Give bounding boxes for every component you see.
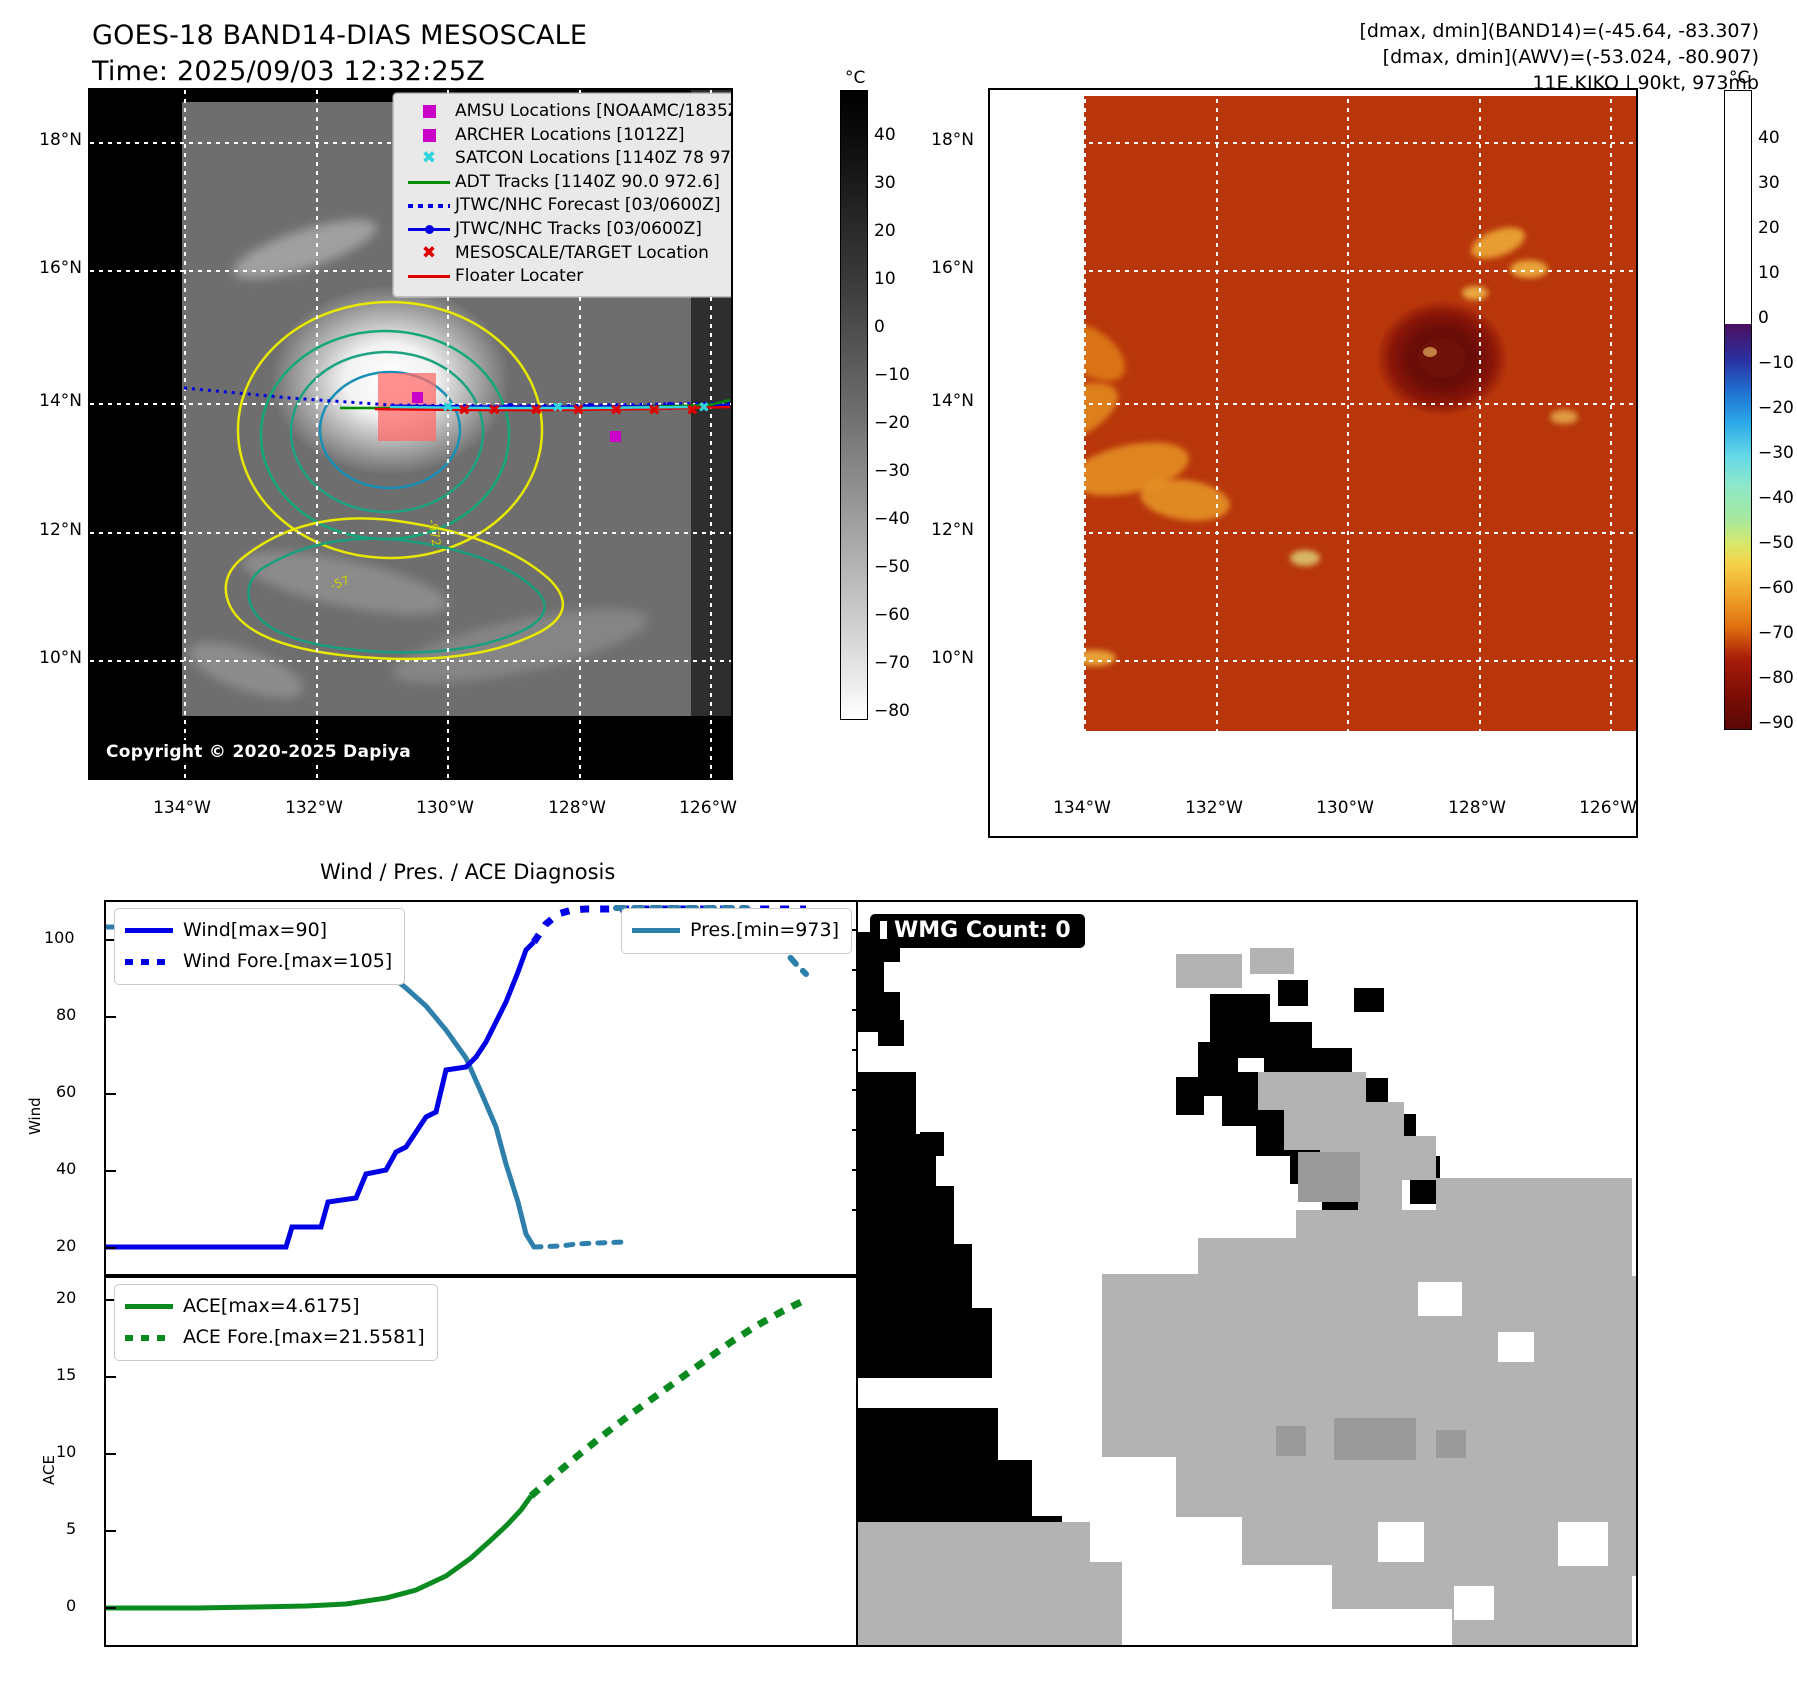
cb-tick: −80 xyxy=(874,701,910,721)
ace-ytick: 5 xyxy=(66,1519,76,1538)
wmg-count-label: WMG Count: 0 xyxy=(894,918,1071,943)
ace-chart[interactable]: ACE[max=4.6175] ACE Fore.[max=21.5581] xyxy=(104,1276,864,1647)
legend-item: ✖MESOSCALE/TARGET Location xyxy=(403,242,733,266)
ir-xtick: 132°W xyxy=(285,798,343,818)
ir-xtick: 128°W xyxy=(548,798,606,818)
cb-tick: 0 xyxy=(1758,308,1769,328)
cb-tick: 0 xyxy=(874,317,885,337)
ace-ytick: 0 xyxy=(66,1596,76,1615)
grid-line-vertical xyxy=(1216,90,1218,836)
legend-label: JTWC/NHC Forecast [03/0600Z] xyxy=(455,194,720,218)
wind-ytick: 80 xyxy=(56,1005,76,1024)
cb-tick: −30 xyxy=(874,461,910,481)
awv-xtick: 134°W xyxy=(1053,798,1111,818)
grid-line-horizontal xyxy=(990,270,1636,272)
legend-item: ACE Fore.[max=21.5581] xyxy=(125,1322,425,1353)
dotted-line-icon xyxy=(125,1335,183,1341)
legend-label: Floater Locater xyxy=(455,265,583,289)
legend-item: ✖SATCON Locations [1140Z 78 979] xyxy=(403,147,733,171)
cb-tick: −40 xyxy=(1758,488,1794,508)
grid-line-horizontal xyxy=(990,660,1636,662)
grid-line-vertical xyxy=(1084,90,1086,836)
wind-ytick: 20 xyxy=(56,1236,76,1255)
wmg-bitmap xyxy=(858,902,1636,1645)
cb-tick: −20 xyxy=(874,413,910,433)
awv-ytick: 16°N xyxy=(912,258,974,278)
svg-text:✖: ✖ xyxy=(488,401,501,419)
timestamp-line: Time: 2025/09/03 12:32:25Z xyxy=(92,54,587,90)
awv-ytick: 14°N xyxy=(912,391,974,411)
wmg-panel[interactable]: WMG Count: 0 xyxy=(856,900,1638,1647)
legend-label: AMSU Locations [NOAAMC/1835Z 62 990] xyxy=(455,100,733,124)
legend-item: Floater Locater xyxy=(403,265,733,289)
awv-white-margin-left xyxy=(990,90,1084,836)
solid-line-icon xyxy=(125,1304,183,1309)
x-marker-icon: ✖ xyxy=(403,245,455,262)
header-stats: [dmax, dmin](BAND14)=(-45.64, -83.307) [… xyxy=(1359,18,1759,96)
map-legend: AMSU Locations [NOAAMC/1835Z 62 990] ARC… xyxy=(393,93,733,297)
awv-xtick: 126°W xyxy=(1579,798,1637,818)
wind-axis-label: Wind xyxy=(26,1097,44,1135)
legend-item: JTWC/NHC Forecast [03/0600Z] xyxy=(403,194,733,218)
cb-tick: −50 xyxy=(874,557,910,577)
ir-ytick: 16°N xyxy=(24,258,82,278)
cb-tick: −60 xyxy=(874,605,910,625)
svg-text:✖: ✖ xyxy=(552,400,564,416)
grid-line-horizontal xyxy=(990,403,1636,405)
awv-xtick: 130°W xyxy=(1316,798,1374,818)
ir-satellite-map[interactable]: -972 -57 ✖✖ ✖✖ ✖✖ ✖ ✖✖✖ AMSU Locations [… xyxy=(88,88,733,780)
solid-line-icon xyxy=(403,181,455,184)
copyright-notice: Copyright © 2020-2025 Dapiya xyxy=(98,740,419,764)
legend-label: Wind Fore.[max=105] xyxy=(183,946,392,977)
dmax-dmin-band14: [dmax, dmin](BAND14)=(-45.64, -83.307) xyxy=(1359,18,1759,44)
solid-line-icon xyxy=(403,275,455,278)
legend-item: ARCHER Locations [1012Z] xyxy=(403,124,733,148)
awv-xtick: 128°W xyxy=(1448,798,1506,818)
awv-imagery xyxy=(990,90,1636,836)
svg-text:✖: ✖ xyxy=(530,401,543,419)
legend-item: JTWC/NHC Tracks [03/0600Z] xyxy=(403,218,733,242)
square-icon xyxy=(403,105,455,118)
cb-tick: −20 xyxy=(1758,398,1794,418)
cb-tick: 40 xyxy=(1758,128,1780,148)
cb-tick: 30 xyxy=(1758,173,1780,193)
wind-pressure-chart[interactable]: Wind[max=90] Wind Fore.[max=105] Pres.[m… xyxy=(104,900,864,1276)
grid-line-horizontal xyxy=(990,142,1636,144)
awv-ytick: 12°N xyxy=(912,520,974,540)
cb-tick: 10 xyxy=(1758,263,1780,283)
dotted-line-icon xyxy=(125,959,183,965)
ace-legend: ACE[max=4.6175] ACE Fore.[max=21.5581] xyxy=(114,1284,438,1361)
bar-icon xyxy=(880,921,887,939)
ir-xtick: 134°W xyxy=(153,798,211,818)
ir-xtick: 130°W xyxy=(416,798,474,818)
awv-white-margin-top xyxy=(990,90,1636,96)
awv-white-margin-bottom xyxy=(990,731,1636,836)
grid-line-vertical xyxy=(1347,90,1349,836)
cb-tick: −50 xyxy=(1758,533,1794,553)
wind-legend: Wind[max=90] Wind Fore.[max=105] xyxy=(114,908,405,985)
ace-ytick: 10 xyxy=(56,1442,76,1461)
awv-colorbar-ticks: 40 30 20 10 0 −10 −20 −30 −40 −50 −60 −7… xyxy=(1724,90,1797,728)
cb-tick: −80 xyxy=(1758,668,1794,688)
cb-tick: −60 xyxy=(1758,578,1794,598)
svg-text:✖: ✖ xyxy=(686,401,699,419)
cb-tick: 10 xyxy=(874,269,896,289)
legend-item: Pres.[min=973] xyxy=(632,915,839,946)
diagnosis-title: Wind / Pres. / ACE Diagnosis xyxy=(320,860,615,884)
svg-text:✖: ✖ xyxy=(648,401,661,419)
svg-text:✖: ✖ xyxy=(610,401,623,419)
svg-text:✖: ✖ xyxy=(458,401,471,419)
cb-tick: 20 xyxy=(874,221,896,241)
solid-line-icon xyxy=(632,928,690,933)
svg-text:✖: ✖ xyxy=(698,400,710,416)
legend-item: Wind Fore.[max=105] xyxy=(125,946,392,977)
legend-label: JTWC/NHC Tracks [03/0600Z] xyxy=(455,218,702,242)
cb-tick: −90 xyxy=(1758,713,1794,733)
cb-tick: −10 xyxy=(874,365,910,385)
legend-label: Pres.[min=973] xyxy=(690,915,839,946)
title-line: GOES-18 BAND14-DIAS MESOSCALE xyxy=(92,18,587,54)
ace-ytick: 20 xyxy=(56,1288,76,1307)
ace-ytick: 15 xyxy=(56,1365,76,1384)
legend-label: SATCON Locations [1140Z 78 979] xyxy=(455,147,733,171)
svg-text:✖: ✖ xyxy=(572,401,585,419)
eye-detail xyxy=(990,90,1636,736)
cb-tick: 30 xyxy=(874,173,896,193)
dotted-line-icon xyxy=(403,204,455,208)
ir-ytick: 18°N xyxy=(24,130,82,150)
cb-tick: −70 xyxy=(874,653,910,673)
dmax-dmin-awv: [dmax, dmin](AWV)=(-53.024, -80.907) xyxy=(1359,44,1759,70)
wind-ytick: 60 xyxy=(56,1082,76,1101)
awv-ytick: 18°N xyxy=(912,130,974,150)
awv-ytick: 10°N xyxy=(912,648,974,668)
legend-label: ADT Tracks [1140Z 90.0 972.6] xyxy=(455,171,720,195)
awv-map-frame[interactable] xyxy=(988,88,1638,838)
awv-colorbar-unit: °C xyxy=(1729,68,1749,88)
awv-xtick: 132°W xyxy=(1185,798,1243,818)
wind-ytick: 100 xyxy=(44,928,75,947)
cb-tick: −10 xyxy=(1758,353,1794,373)
legend-label: ARCHER Locations [1012Z] xyxy=(455,124,685,148)
ir-ytick: 14°N xyxy=(24,391,82,411)
wmg-count-badge: WMG Count: 0 xyxy=(870,914,1085,948)
pressure-legend: Pres.[min=973] xyxy=(621,908,852,954)
x-marker-icon: ✖ xyxy=(403,150,455,167)
grid-line-vertical xyxy=(1479,90,1481,836)
square-icon xyxy=(403,129,455,142)
line-marker-icon xyxy=(403,224,455,235)
legend-label: Wind[max=90] xyxy=(183,915,327,946)
legend-item: Wind[max=90] xyxy=(125,915,392,946)
ir-ytick: 10°N xyxy=(24,648,82,668)
legend-label: MESOSCALE/TARGET Location xyxy=(455,242,709,266)
legend-label: ACE[max=4.6175] xyxy=(183,1291,360,1322)
ir-xtick: 126°W xyxy=(679,798,737,818)
grid-line-vertical xyxy=(1610,90,1612,836)
legend-label: ACE Fore.[max=21.5581] xyxy=(183,1322,425,1353)
cb-tick: −70 xyxy=(1758,623,1794,643)
ir-colorbar-unit: °C xyxy=(845,68,865,88)
cb-tick: −30 xyxy=(1758,443,1794,463)
legend-item: AMSU Locations [NOAAMC/1835Z 62 990] xyxy=(403,100,733,124)
legend-item: ACE[max=4.6175] xyxy=(125,1291,425,1322)
wind-ytick: 40 xyxy=(56,1159,76,1178)
ir-ytick: 12°N xyxy=(24,520,82,540)
legend-item: ADT Tracks [1140Z 90.0 972.6] xyxy=(403,171,733,195)
cb-tick: 40 xyxy=(874,125,896,145)
grid-line-horizontal xyxy=(990,532,1636,534)
cb-tick: 20 xyxy=(1758,218,1780,238)
solid-line-icon xyxy=(125,928,183,933)
page-title: GOES-18 BAND14-DIAS MESOSCALE Time: 2025… xyxy=(92,18,587,90)
svg-text:✖: ✖ xyxy=(442,400,454,416)
cb-tick: −40 xyxy=(874,509,910,529)
